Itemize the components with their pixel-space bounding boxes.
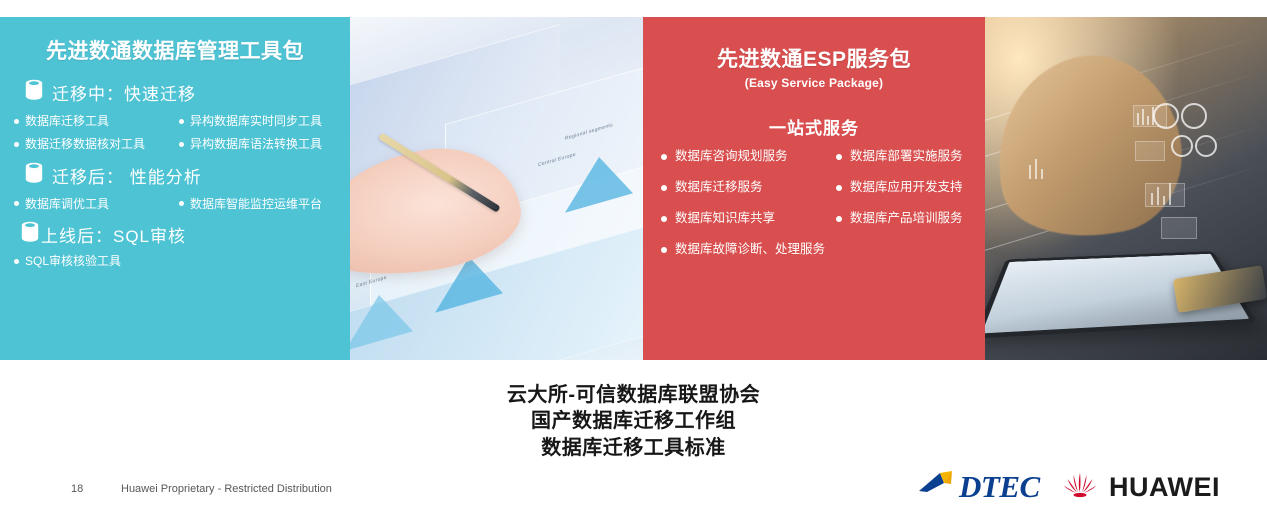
right-panel-title: 先进数通ESP服务包: [657, 43, 971, 73]
list-item-label: 数据库迁移工具: [25, 114, 109, 128]
right-esp-panel: 先进数通ESP服务包 (Easy Service Package) 一站式服务 …: [643, 17, 985, 360]
list-item: 数据库应用开发支持: [836, 180, 971, 195]
esp-service-list-wide: 数据库故障诊断、处理服务: [661, 242, 971, 257]
hud-ring: [1171, 135, 1193, 157]
section-header-migrating: 迁移中：快速迁移: [24, 79, 340, 106]
bullet-dot-icon: [14, 119, 19, 124]
list-item-label: 数据库咨询规划服务: [675, 149, 788, 164]
right-panel-heading: 一站式服务: [657, 114, 971, 139]
bullet-dot-icon: [836, 216, 842, 222]
hud-bar: [1029, 165, 1031, 179]
headline-line-1: 云大所-可信数据库联盟协会: [0, 382, 1267, 408]
hud-ring: [1195, 135, 1217, 157]
database-icon: [20, 221, 40, 248]
after-golive-item-list: SQL审核核验工具: [14, 254, 340, 268]
headline-line-3: 数据库迁移工具标准: [0, 435, 1267, 461]
list-item: 数据库调优工具: [14, 197, 179, 211]
list-item-label: 数据库故障诊断、处理服务: [675, 242, 825, 257]
migrating-item-list: 数据库迁移工具 异构数据库实时同步工具 数据迁移数据核对工具 异构数据库语法转换…: [14, 114, 340, 152]
bullet-dot-icon: [836, 154, 842, 160]
esp-service-list: 数据库咨询规划服务 数据库部署实施服务 数据库迁移服务 数据库应用开发支持 数据…: [661, 149, 971, 226]
list-item-label: 数据库知识库共享: [675, 211, 775, 226]
huawei-logo: HUAWEI: [1060, 470, 1220, 505]
bullet-dot-icon: [661, 216, 667, 222]
section-label: 迁移中：快速迁移: [52, 80, 196, 105]
bullet-dot-icon: [14, 201, 19, 206]
list-item-label: 异构数据库实时同步工具: [190, 114, 322, 128]
bullet-dot-icon: [14, 259, 19, 264]
hud-bar: [1157, 187, 1159, 205]
hud-bar: [1147, 116, 1149, 125]
section-label: 上线后：SQL审核: [41, 222, 186, 247]
left-toolkit-panel: 先进数通数据库管理工具包 迁移中：快速迁移 数据库迁移工具 异构数据库实时同步工…: [0, 17, 350, 360]
list-item: 异构数据库实时同步工具: [179, 114, 340, 128]
list-item-label: 数据库部署实施服务: [850, 149, 963, 164]
hud-ring: [1181, 103, 1207, 129]
bullet-dot-icon: [836, 185, 842, 191]
hud-bar: [1041, 169, 1043, 179]
hud-bar: [1163, 196, 1165, 205]
hud-ring: [1153, 103, 1179, 129]
hand-writing-on-charts-photo: Regional segments Central Europe West Eu…: [350, 17, 643, 360]
section-header-after-migration: 迁移后： 性能分析: [24, 162, 340, 189]
section-label: 迁移后： 性能分析: [52, 163, 202, 188]
dtec-logo: DTEC: [918, 470, 1040, 503]
list-item: 数据库产品培训服务: [836, 211, 971, 226]
database-icon: [24, 162, 44, 189]
database-icon: [24, 79, 44, 106]
hud-bar: [1151, 193, 1153, 205]
list-item: 数据库咨询规划服务: [661, 149, 836, 164]
hud-bar: [1142, 109, 1144, 125]
list-item: 异构数据库语法转换工具: [179, 137, 340, 151]
left-panel-title: 先进数通数据库管理工具包: [10, 35, 340, 65]
list-item-label: 数据库智能监控运维平台: [190, 197, 322, 211]
list-item: 数据库部署实施服务: [836, 149, 971, 164]
huawei-wordmark: HUAWEI: [1109, 474, 1220, 501]
slide-canvas: 先进数通数据库管理工具包 迁移中：快速迁移 数据库迁移工具 异构数据库实时同步工…: [0, 0, 1267, 510]
bullet-dot-icon: [661, 185, 667, 191]
list-item: 数据库故障诊断、处理服务: [661, 242, 971, 257]
hud-bar: [1169, 183, 1171, 205]
finger-touching-tablet-photo: [985, 17, 1267, 360]
bullet-dot-icon: [179, 119, 184, 124]
hud-bar: [1035, 159, 1037, 179]
list-item-label: 异构数据库语法转换工具: [190, 137, 322, 151]
dtec-swoosh-icon: [918, 470, 958, 503]
section-header-after-golive: 上线后：SQL审核: [20, 221, 340, 248]
list-item-label: 数据库迁移服务: [675, 180, 763, 195]
banner-strip: 先进数通数据库管理工具包 迁移中：快速迁移 数据库迁移工具 异构数据库实时同步工…: [0, 17, 1267, 360]
list-item-label: 数据库产品培训服务: [850, 211, 963, 226]
list-item-label: 数据库调优工具: [25, 197, 109, 211]
headline-line-2: 国产数据库迁移工作组: [0, 408, 1267, 434]
list-item-label: SQL审核核验工具: [25, 254, 121, 268]
dtec-wordmark: DTEC: [959, 471, 1040, 502]
confidentiality-note: Huawei Proprietary - Restricted Distribu…: [121, 483, 332, 495]
bullet-dot-icon: [661, 247, 667, 253]
hud-panel: [1161, 217, 1197, 239]
list-item-label: 数据迁移数据核对工具: [25, 137, 145, 151]
list-item-label: 数据库应用开发支持: [850, 180, 963, 195]
bullet-dot-icon: [179, 201, 184, 206]
hud-panel: [1135, 141, 1165, 161]
bullet-dot-icon: [179, 142, 184, 147]
page-number: 18: [71, 483, 83, 495]
hud-bar: [1137, 113, 1139, 125]
list-item: 数据库智能监控运维平台: [179, 197, 340, 211]
list-item: 数据迁移数据核对工具: [14, 137, 179, 151]
headline-block: 云大所-可信数据库联盟协会 国产数据库迁移工作组 数据库迁移工具标准: [0, 382, 1267, 461]
right-panel-subtitle: (Easy Service Package): [657, 76, 971, 90]
bullet-dot-icon: [661, 154, 667, 160]
list-item: 数据库迁移工具: [14, 114, 179, 128]
list-item: 数据库知识库共享: [661, 211, 836, 226]
after-migration-item-list: 数据库调优工具 数据库智能监控运维平台: [14, 197, 340, 211]
list-item: SQL审核核验工具: [14, 254, 340, 268]
bullet-dot-icon: [14, 142, 19, 147]
huawei-flower-icon: [1060, 470, 1100, 505]
list-item: 数据库迁移服务: [661, 180, 836, 195]
